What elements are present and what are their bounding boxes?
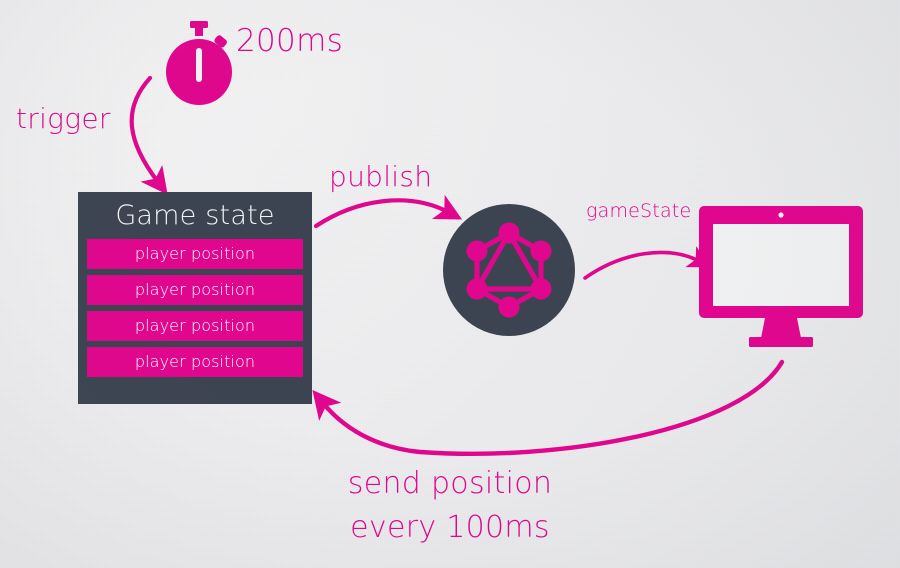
edge-label-gamestate: gameState — [586, 200, 691, 222]
player-position-row: player position — [87, 347, 303, 377]
player-position-row: player position — [87, 275, 303, 305]
edge-label-publish: publish — [329, 160, 432, 193]
stopwatch-icon — [161, 21, 237, 107]
monitor-icon — [697, 204, 877, 354]
timer-label: 200ms — [236, 23, 343, 59]
game-state-panel: Game state player position player positi… — [78, 192, 312, 404]
arrow-publish — [316, 200, 448, 226]
graphql-logo-icon — [443, 204, 575, 336]
send-position-line-1: send position — [0, 462, 900, 506]
diagram-canvas: 200ms trigger Game state player position… — [0, 0, 900, 568]
edge-label-send-position: send position every 100ms — [0, 462, 900, 550]
arrow-send-position — [323, 362, 782, 454]
player-position-row: player position — [87, 239, 303, 269]
edge-label-trigger: trigger — [16, 102, 111, 135]
arrow-gamestate — [585, 252, 699, 278]
player-position-row: player position — [87, 311, 303, 341]
game-state-title: Game state — [87, 199, 303, 233]
arrow-trigger — [132, 78, 158, 182]
send-position-line-2: every 100ms — [0, 506, 900, 550]
